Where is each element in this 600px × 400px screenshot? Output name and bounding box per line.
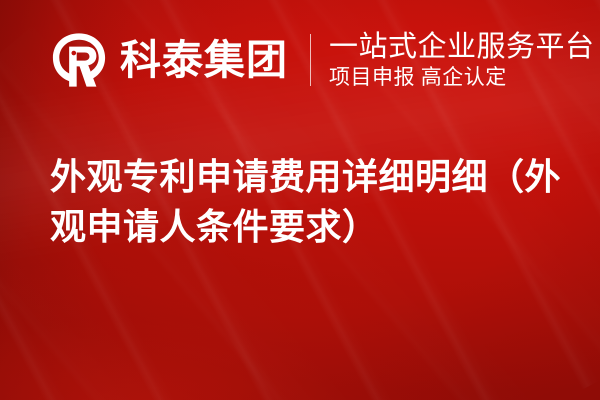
tagline-group: 一站式企业服务平台 项目申报 高企认定	[329, 31, 595, 90]
page-title-line-2: 观申请人条件要求）	[50, 202, 555, 252]
ketai-circle-r-logo-icon	[50, 31, 108, 89]
tagline-secondary: 项目申报 高企认定	[329, 66, 595, 90]
brand-name: 科泰集团	[120, 40, 288, 81]
promo-banner: 科泰集团 一站式企业服务平台 项目申报 高企认定 外观专利申请费用详细明细（外 …	[0, 0, 600, 400]
page-title: 外观专利申请费用详细明细（外 观申请人条件要求）	[50, 152, 555, 252]
brand-header: 科泰集团 一站式企业服务平台 项目申报 高企认定	[50, 24, 595, 96]
tagline-primary: 一站式企业服务平台	[329, 31, 595, 63]
page-title-line-1: 外观专利申请费用详细明细（外	[50, 152, 555, 202]
header-divider	[310, 34, 311, 86]
